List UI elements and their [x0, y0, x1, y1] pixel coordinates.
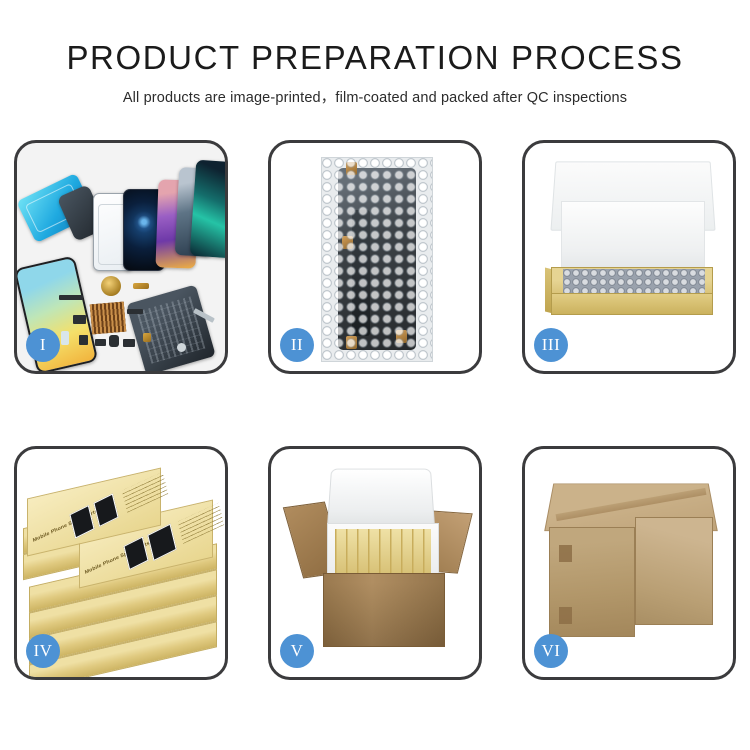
box-spec-lines-2 [178, 503, 224, 544]
logic-board-icon [90, 302, 126, 335]
carton-body-icon [323, 573, 445, 647]
step-1-numeral: I [40, 335, 46, 355]
small-screen-part-icon [61, 331, 69, 345]
process-step-2: II [268, 140, 482, 374]
process-step-4: Mobile Phone Spare Parts Mobile Phone Sp… [14, 446, 228, 680]
packed-yellow-boxes-icon [335, 529, 431, 573]
box-spec-lines-1 [122, 472, 168, 513]
bubble-texture-overlay [322, 158, 432, 361]
box-window-screen-1b [93, 493, 118, 527]
step-badge-3: III [534, 328, 568, 362]
box-stack-icon: Mobile Phone Spare Parts Mobile Phone Sp… [23, 473, 223, 663]
step-badge-5: V [280, 634, 314, 668]
process-step-3: III [522, 140, 736, 374]
step-4-numeral: IV [34, 641, 53, 661]
camera-module-icon [73, 315, 86, 324]
carton-side-face-icon [635, 517, 713, 625]
carton-tape-tab-upper [559, 545, 572, 562]
step-5-numeral: V [291, 641, 304, 661]
process-step-grid: I II [14, 140, 736, 680]
speaker-coil-icon [101, 276, 121, 296]
process-step-1: I [14, 140, 228, 374]
step-badge-6: VI [534, 634, 568, 668]
step-badge-4: IV [26, 634, 60, 668]
teal-phone-icon [190, 160, 225, 259]
page-subtitle: All products are image-printed，film-coat… [0, 86, 750, 107]
bubble-wrap-bag-icon [321, 157, 433, 362]
sim-tray-icon [123, 339, 135, 347]
antenna-cable-icon [127, 309, 143, 314]
styrofoam-lid-icon [327, 469, 435, 530]
product-preparation-infographic: PRODUCT PREPARATION PROCESS All products… [0, 0, 750, 750]
step-3-numeral: III [542, 335, 560, 355]
step-badge-2: II [280, 328, 314, 362]
step-2-numeral: II [291, 335, 303, 355]
step-6-numeral: VI [542, 641, 561, 661]
page-title: PRODUCT PREPARATION PROCESS [0, 40, 750, 76]
vibration-motor-icon [79, 335, 88, 345]
screw-icon [177, 343, 186, 352]
box-window-screen-2b [147, 524, 176, 561]
spare-part-icon [59, 295, 83, 300]
gold-bracket-icon [143, 333, 151, 342]
box-front-panel-icon [551, 293, 713, 315]
battery-connector-icon [109, 335, 119, 347]
phone-rear-housing-icon [126, 285, 216, 371]
flex-cable-icon [95, 339, 106, 346]
process-step-5: V [268, 446, 482, 680]
foam-sheet-icon [561, 201, 705, 273]
process-step-6: VI [522, 446, 736, 680]
step-badge-1: I [26, 328, 60, 362]
gold-connector-icon [133, 283, 149, 289]
carton-tape-tab-lower [559, 607, 572, 624]
bubble-wrap-layer-icon [563, 269, 705, 295]
header: PRODUCT PREPARATION PROCESS All products… [0, 0, 750, 107]
